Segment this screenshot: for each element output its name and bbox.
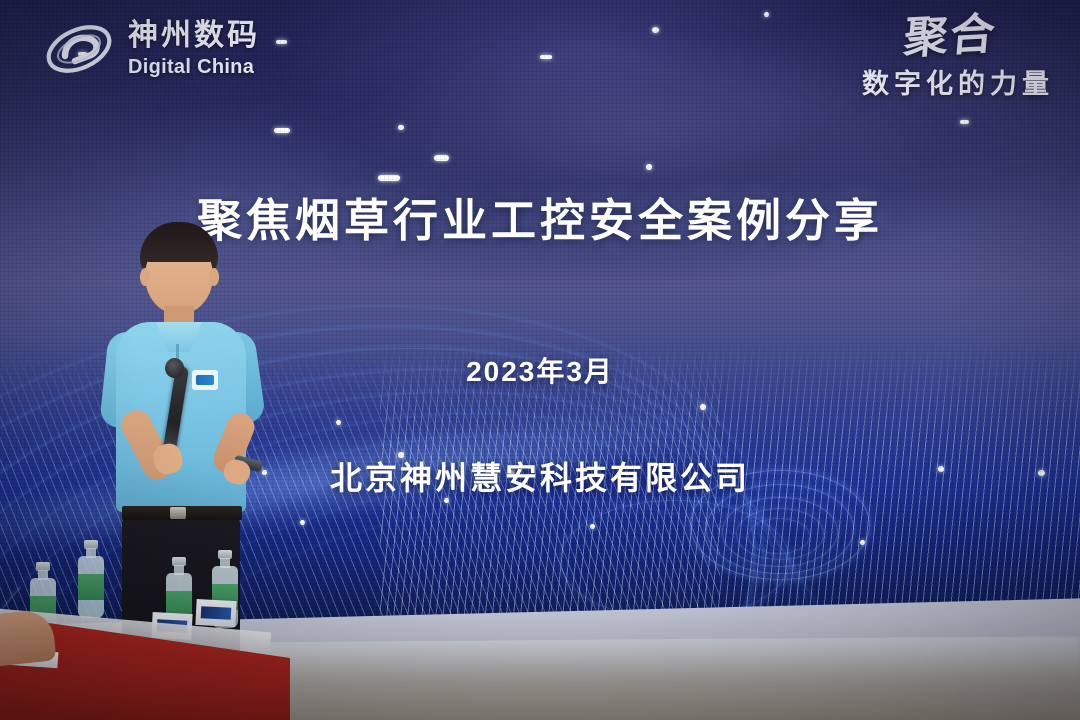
digital-china-wordmark: 神州数码 Digital China: [128, 21, 260, 77]
brand-name-chinese: 神州数码: [128, 21, 260, 51]
digital-china-logo: 神州数码 Digital China: [42, 16, 260, 82]
campaign-calligraphy: 聚合: [860, 15, 998, 62]
campaign-tagline: 数字化的力量: [862, 62, 1054, 101]
digital-china-swirl-icon: [42, 16, 116, 82]
presenter-ear-right: [209, 268, 219, 286]
brand-name-english: Digital China: [128, 57, 260, 77]
presenter-belt-buckle: [170, 507, 186, 519]
presenter-fringe: [141, 232, 217, 262]
campaign-logo: 聚合 数字化的力量: [862, 18, 1054, 101]
presenter-ear-left: [140, 268, 150, 286]
conference-stage-photo: 聚焦烟草行业工控安全案例分享 2023年3月 北京神州慧安科技有限公司 神州数码…: [0, 0, 1080, 720]
name-card: [195, 599, 236, 627]
presenter-chest-logo: [192, 370, 218, 390]
